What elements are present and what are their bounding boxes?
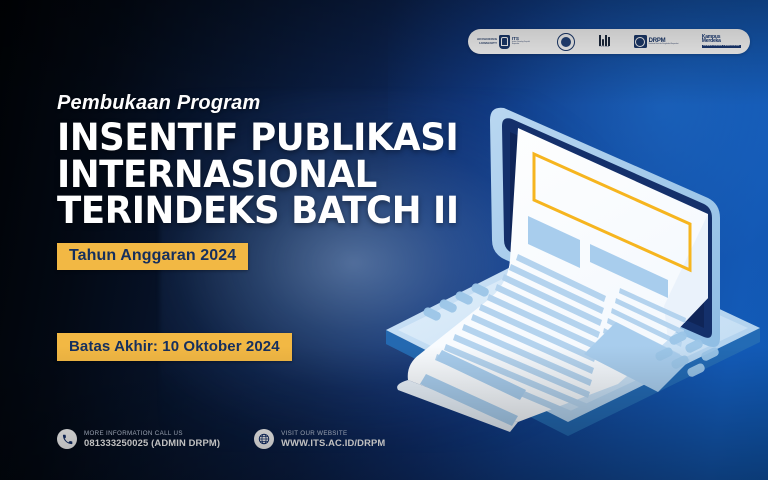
- contact-website-label: VISIT OUR WEBSITE: [281, 430, 385, 437]
- partner-logo-bar: ADVANCING HUMANITY ITS Institut Teknolog…: [468, 29, 750, 54]
- drpm-logo: DRPM Direktorat Riset dan Pengabdian Mas…: [634, 35, 679, 48]
- drpm-seal-icon: [634, 35, 647, 48]
- advancing-humanity-line2: HUMANITY: [477, 42, 497, 46]
- hi-60-mark-icon: [599, 35, 611, 46]
- headline-line-3: TERINDEKS BATCH II: [57, 193, 460, 230]
- its-fullname: Institut Teknologi Sepuluh Nopember: [512, 42, 534, 46]
- deadline-badge: Batas Akhir: 10 Oktober 2024: [57, 333, 292, 361]
- eyebrow-text: Pembukaan Program: [57, 92, 260, 115]
- drpm-fullname: Direktorat Riset dan Pengabdian Masyarak…: [649, 44, 679, 46]
- hi-60-sub: ITS 60 Tahun: [600, 47, 609, 49]
- contact-website-value: WWW.ITS.AC.ID/DRPM: [281, 438, 385, 449]
- contact-phone-label: MORE INFORMATION CALL US: [84, 430, 220, 437]
- globe-icon: [254, 429, 274, 449]
- its-seal-icon: [557, 33, 575, 51]
- its-seal-logo: [557, 33, 575, 51]
- hi-60-anniversary-logo: ITS 60 Tahun: [599, 35, 611, 49]
- its-shield-icon: [499, 35, 510, 49]
- kampus-merdeka-line3: KEMENTERIAN PENDIDIKAN: [702, 45, 741, 48]
- contact-website[interactable]: VISIT OUR WEBSITE WWW.ITS.AC.ID/DRPM: [254, 429, 385, 449]
- kampus-merdeka-logo: Kampus Merdeka KEMENTERIAN PENDIDIKAN: [702, 35, 741, 49]
- phone-icon: [57, 429, 77, 449]
- headline-line-1: INSENTIF PUBLIKASI: [57, 120, 460, 157]
- advancing-humanity-its-logo: ADVANCING HUMANITY ITS Institut Teknolog…: [477, 35, 534, 49]
- contact-phone-value: 081333250025 (ADMIN DRPM): [84, 438, 220, 449]
- contact-bar: MORE INFORMATION CALL US 081333250025 (A…: [57, 429, 385, 449]
- page-title: INSENTIF PUBLIKASI INTERNASIONAL TERINDE…: [57, 120, 460, 230]
- fiscal-year-badge: Tahun Anggaran 2024: [57, 243, 248, 270]
- kampus-merdeka-line2: Merdeka: [702, 39, 721, 44]
- poster-canvas: ADVANCING HUMANITY ITS Institut Teknolog…: [0, 0, 768, 480]
- contact-phone[interactable]: MORE INFORMATION CALL US 081333250025 (A…: [57, 429, 220, 449]
- headline-line-2: INTERNASIONAL: [57, 157, 460, 194]
